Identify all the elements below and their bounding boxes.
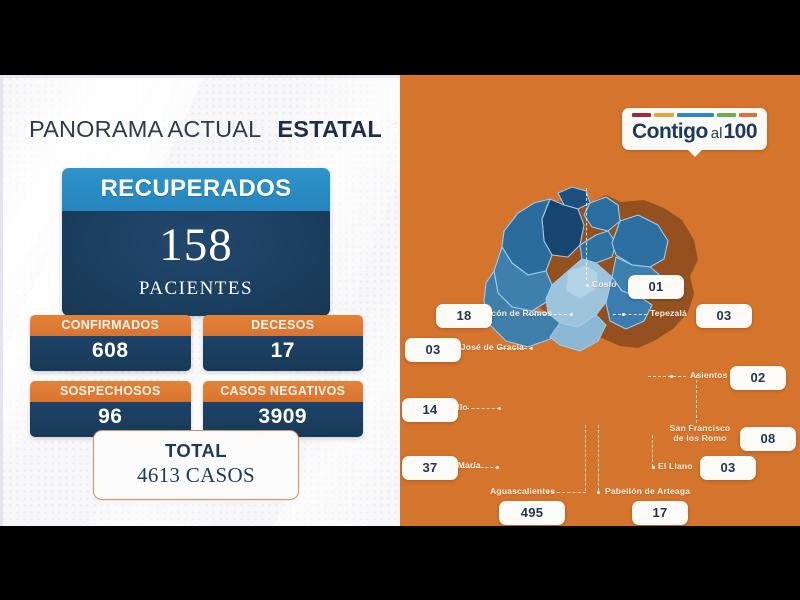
leader-line — [648, 376, 686, 377]
leader-line — [466, 408, 500, 409]
leader-line — [585, 425, 586, 491]
page-title-light: PANORAMA ACTUAL — [29, 116, 261, 143]
leader-line — [586, 188, 587, 280]
muni-label-cosio: Cosío — [592, 280, 617, 290]
muni-label-san-francisco-de-los-romo: San Francisco de los Romo — [664, 424, 736, 444]
panel-left-border — [0, 75, 3, 526]
aguascalientes-map: Cosío 01 Tepezalá 03 Rincón de Romos 18 … — [400, 75, 800, 526]
callout-san-jose-de-gracia: 03 — [405, 338, 461, 362]
recuperados-value: 158 — [62, 222, 330, 269]
leader-line — [652, 435, 653, 467]
total-value: 4613 CASOS — [94, 463, 298, 488]
leader-line — [696, 375, 697, 423]
recuperados-body: 158 PACIENTES — [62, 211, 330, 316]
stat-box-casos-negativos: CASOS NEGATIVOS 3909 — [203, 381, 364, 437]
page-title: PANORAMA ACTUAL ESTATAL — [29, 113, 400, 145]
callout-pabellon-de-arteaga: 17 — [632, 501, 688, 525]
page-title-bold: ESTATAL — [277, 116, 382, 143]
stat-value: 608 — [30, 336, 191, 371]
infographic-content: PANORAMA ACTUAL ESTATAL RECUPERADOS — [0, 75, 800, 526]
stat-label: SOSPECHOSOS — [30, 381, 191, 402]
stat-value: 17 — [203, 336, 364, 371]
callout-el-llano: 03 — [700, 456, 756, 480]
stat-label: CONFIRMADOS — [30, 315, 191, 336]
leader-line — [613, 314, 647, 315]
muni-label-pabellon-de-arteaga: Pabellón de Arteaga — [605, 487, 690, 497]
panel-top-border — [0, 75, 400, 78]
muni-label-aguascalientes: Aguascalientes — [490, 487, 555, 497]
right-map-panel: Contigo al 100 — [400, 75, 800, 526]
callout-jesus-maria: 37 — [402, 456, 458, 480]
left-summary-panel: PANORAMA ACTUAL ESTATAL RECUPERADOS — [0, 75, 400, 526]
stat-label: DECESOS — [203, 315, 364, 336]
stat-box-sospechosos: SOSPECHOSOS 96 — [30, 381, 191, 437]
recuperados-unit: PACIENTES — [62, 278, 330, 300]
callout-rincon-de-romos: 18 — [436, 304, 492, 328]
callout-aguascalientes: 495 — [499, 501, 565, 525]
recuperados-label: RECUPERADOS — [62, 168, 330, 211]
callout-tepezala: 03 — [696, 304, 752, 328]
total-label: TOTAL — [94, 440, 298, 462]
leader-dot — [597, 491, 600, 494]
total-box: TOTAL 4613 CASOS — [93, 430, 299, 500]
stat-box-confirmados: CONFIRMADOS 608 — [30, 315, 191, 371]
muni-label-el-llano: El Llano — [658, 462, 693, 472]
recuperados-card: RECUPERADOS 158 PACIENTES — [62, 168, 330, 316]
stat-label: CASOS NEGATIVOS — [203, 381, 364, 402]
callout-calvillo: 14 — [402, 398, 458, 422]
callout-asientos: 02 — [730, 366, 786, 390]
statistics-grid: CONFIRMADOS 608 DECESOS 17 SOSPECHOSOS 9… — [30, 315, 363, 437]
stat-box-decesos: DECESOS 17 — [203, 315, 364, 371]
callout-san-francisco-de-los-romo: 08 — [740, 427, 796, 451]
leader-dot — [586, 284, 589, 287]
mexico-map-pin-icon — [391, 113, 400, 145]
leader-line — [598, 425, 599, 491]
screenshot-stage: PANORAMA ACTUAL ESTATAL RECUPERADOS — [0, 0, 800, 600]
callout-cosio: 01 — [628, 275, 684, 299]
muni-label-tepezala: Tepezalá — [650, 309, 687, 319]
